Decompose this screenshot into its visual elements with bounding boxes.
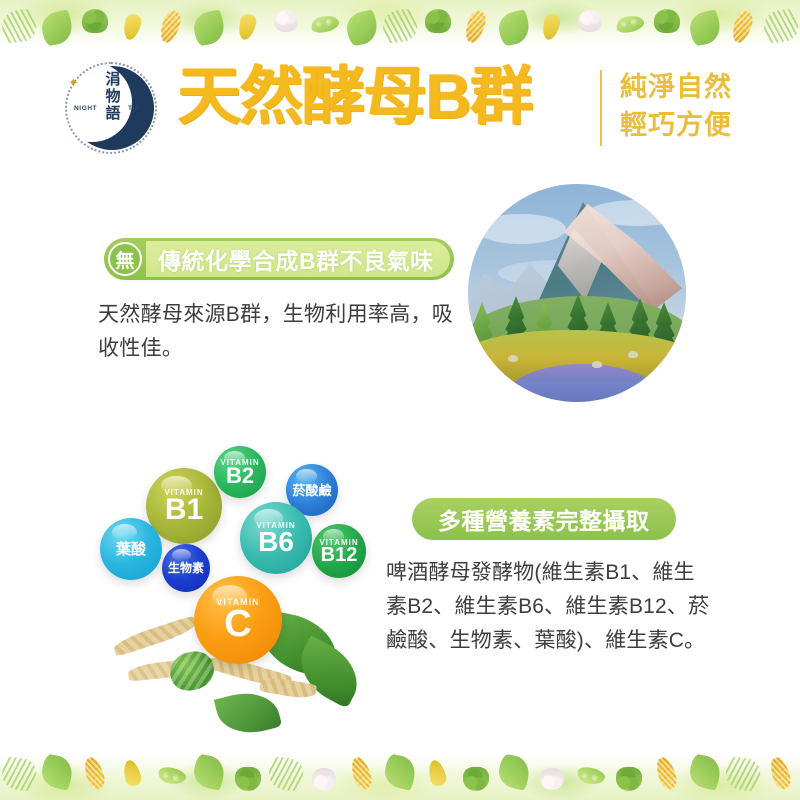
bubble-b1-vitamin-label: VITAMIN — [164, 488, 203, 497]
section-one-body: 天然酵母來源B群，生物利用率高，吸收性佳。 — [98, 298, 458, 366]
veg-cauliflower-icon — [269, 6, 303, 46]
veg-leafy-icon — [192, 6, 226, 46]
tagline-line-2: 輕巧方便 — [620, 106, 732, 144]
veg-corn-icon — [154, 6, 188, 46]
bubble-b6-vitamin-label: VITAMIN — [256, 521, 295, 530]
veg-corn-icon — [650, 754, 684, 794]
bubble-vitamin-c: VITAMIN C — [194, 576, 282, 664]
bubble-c-vitamin-label: VITAMIN — [216, 597, 259, 607]
top-vegetable-border — [0, 0, 800, 46]
bubble-b12-vitamin-label: VITAMIN — [319, 538, 358, 547]
title-divider — [600, 70, 602, 146]
veg-frond-icon — [2, 6, 36, 46]
bubble-biotin-label: 生物素 — [168, 562, 204, 574]
bubble-b6: VITAMIN B6 — [240, 502, 312, 574]
brand-name-en-right: TIP — [128, 105, 140, 112]
rock-icon — [508, 355, 518, 362]
veg-cauliflower-icon — [535, 754, 569, 794]
veg-corn-icon — [726, 6, 760, 46]
bubble-b12: VITAMIN B12 — [312, 524, 366, 578]
vegetable-strip — [0, 754, 800, 800]
veg-frond-icon — [383, 6, 417, 46]
veg-cauliflower-icon — [573, 6, 607, 46]
bubble-b2-vitamin-label: VITAMIN — [220, 458, 259, 467]
bubble-niacin-label: 菸酸鹼 — [292, 484, 331, 497]
badge-text-wrap: 傳統化學合成B群不良氣味 — [146, 241, 450, 277]
infographic-page: ✦ 涓物語 NIGHT TIP 天然酵母B群 純淨自然 輕巧方便 — [0, 0, 800, 800]
veg-leafy-icon — [40, 6, 74, 46]
veg-broccoli-icon — [650, 6, 684, 46]
veg-corn-icon — [345, 754, 379, 794]
tagline-line-1: 純淨自然 — [620, 68, 732, 106]
veg-peas-icon — [154, 754, 188, 794]
rock-icon — [592, 361, 602, 368]
veg-frond-icon — [2, 754, 36, 794]
brand-logo: ✦ 涓物語 NIGHT TIP — [62, 60, 164, 156]
veg-leafy-icon — [192, 754, 226, 794]
veg-peas-icon — [573, 754, 607, 794]
vegetable-strip — [0, 0, 800, 46]
veg-frond-icon — [269, 754, 303, 794]
section-two-body: 啤酒酵母發酵物(維生素B1、維生素B2、維生素B6、維生素B12、菸鹼酸、生物素… — [386, 556, 716, 658]
star-icon: ✦ — [68, 76, 79, 89]
header: ✦ 涓物語 NIGHT TIP 天然酵母B群 純淨自然 輕巧方便 — [0, 52, 800, 162]
veg-leafy-icon — [497, 6, 531, 46]
veg-pepper-icon — [421, 754, 455, 794]
rock-icon — [628, 351, 638, 358]
bubble-c-label: C — [224, 605, 251, 643]
veg-broccoli-icon — [459, 754, 493, 794]
bubble-folate-label: 葉酸 — [116, 542, 146, 557]
veg-pepper-icon — [116, 754, 150, 794]
veg-broccoli-icon — [78, 6, 112, 46]
veg-leafy-icon — [345, 6, 379, 46]
veg-pepper-icon — [116, 6, 150, 46]
header-tagline: 純淨自然 輕巧方便 — [620, 68, 732, 145]
veg-leafy-icon — [688, 6, 722, 46]
veg-broccoli-icon — [231, 754, 265, 794]
veg-leafy-icon — [688, 754, 722, 794]
bubble-b6-label: B6 — [258, 528, 294, 556]
nature-scene-image — [468, 184, 686, 402]
veg-corn-icon — [78, 754, 112, 794]
page-title: 天然酵母B群 — [178, 66, 533, 129]
veg-leafy-icon — [383, 754, 417, 794]
section-natural-yeast: 無 傳統化學合成B群不良氣味 天然酵母來源B群，生物利用率高，吸收性佳。 — [0, 180, 800, 410]
veg-peas-icon — [612, 6, 646, 46]
veg-broccoli-icon — [612, 754, 646, 794]
section-nutrients: VITAMIN B1 VITAMIN B2 菸酸鹼 VITAMIN B6 VIT… — [0, 440, 800, 760]
veg-cauliflower-icon — [307, 754, 341, 794]
bottom-vegetable-border — [0, 754, 800, 800]
badge-label: 傳統化學合成B群不良氣味 — [158, 242, 434, 276]
veg-frond-icon — [726, 754, 760, 794]
vitamin-bubble-cluster: VITAMIN B1 VITAMIN B2 菸酸鹼 VITAMIN B6 VIT… — [90, 440, 390, 740]
bubble-b2-label: B2 — [226, 465, 254, 487]
wheat-icon — [112, 615, 199, 657]
veg-leafy-icon — [497, 754, 531, 794]
bubble-folate: 葉酸 — [100, 518, 162, 580]
badge-no-chemical-odor: 無 傳統化學合成B群不良氣味 — [104, 238, 454, 280]
veg-corn-icon — [764, 754, 798, 794]
badge-complete-nutrients: 多種營養素完整攝取 — [412, 498, 676, 540]
brand-name-en-left: NIGHT — [74, 105, 97, 112]
veg-corn-icon — [459, 6, 493, 46]
veg-pepper-icon — [535, 6, 569, 46]
veg-broccoli-icon — [421, 6, 455, 46]
veg-frond-icon — [764, 6, 798, 46]
veg-pepper-icon — [231, 6, 265, 46]
bubble-b2: VITAMIN B2 — [214, 446, 266, 498]
brand-name-cn: 涓物語 — [102, 72, 124, 122]
leaf-icon — [214, 685, 282, 740]
hop-cone-icon — [167, 648, 218, 694]
veg-leafy-icon — [40, 754, 74, 794]
badge-no-mark: 無 — [108, 242, 142, 276]
bubble-b12-label: B12 — [321, 545, 358, 565]
bubble-b1-label: B1 — [165, 495, 203, 525]
cloud-icon — [476, 214, 566, 244]
bubble-biotin: 生物素 — [162, 544, 210, 592]
veg-peas-icon — [307, 6, 341, 46]
